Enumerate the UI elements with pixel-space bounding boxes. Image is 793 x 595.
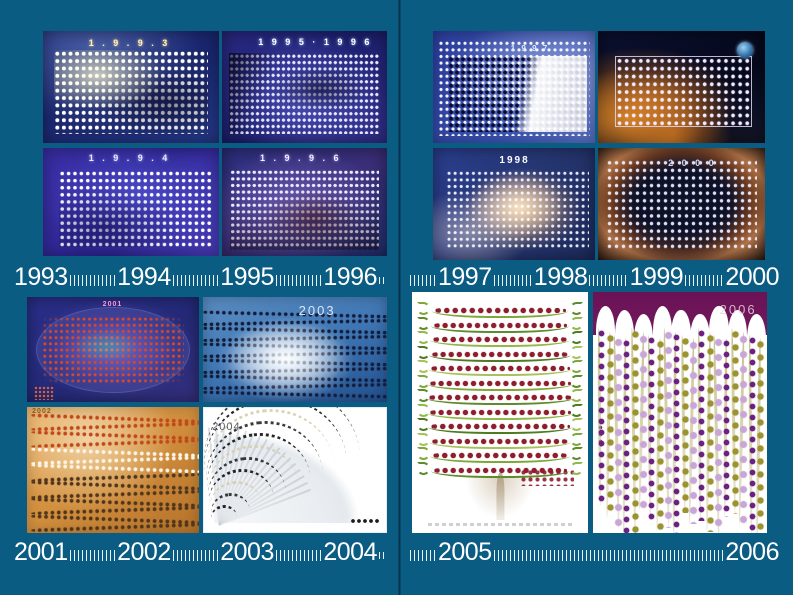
tendril-curl	[417, 346, 430, 359]
poster-2005-artwork	[414, 294, 586, 531]
poster-2004[interactable]: 2004	[203, 407, 387, 533]
timeline-year-1996[interactable]: 1996	[323, 265, 377, 290]
tendril-curl	[570, 418, 583, 431]
tendril-curl	[417, 375, 430, 388]
timeline-ticks	[70, 550, 116, 561]
timeline-year-2006[interactable]: 2006	[725, 540, 779, 565]
timeline-ticks	[70, 275, 116, 286]
poster-caption: 2004	[212, 421, 240, 433]
timeline-year-2001[interactable]: 2001	[14, 540, 68, 565]
timeline-bottom-left: 2001200220032004	[14, 537, 389, 567]
legend-swatches	[34, 386, 54, 400]
poster-2000-artwork: 2 0 0 0	[598, 148, 765, 260]
poster-caption: 2 0 0 0	[668, 158, 717, 168]
poster-2001[interactable]: 2001	[27, 297, 199, 402]
poster-1999-artwork	[598, 31, 765, 143]
berry-row	[430, 364, 570, 373]
poster-caption: 2001	[103, 301, 123, 308]
tendril-curl	[570, 346, 583, 359]
poster-caption: 1 9 9 5 · 1 9 9 6	[258, 37, 372, 47]
berry-row	[433, 321, 567, 330]
poster-1993-artwork: 1 . 9 . 9 . 3	[43, 31, 219, 143]
dot-grid	[448, 56, 587, 132]
tendril-curl	[570, 331, 583, 344]
tendril-curl	[417, 302, 430, 315]
timeline-year-2004[interactable]: 2004	[323, 540, 377, 565]
timeline-ticks	[276, 275, 322, 286]
poster-1993[interactable]: 1 . 9 . 9 . 3	[43, 31, 219, 143]
poster-caption: 2002	[32, 408, 52, 415]
timeline-ticks	[173, 550, 219, 561]
timeline-ticks	[685, 275, 723, 286]
tendril-curl	[570, 389, 583, 402]
timeline-ticks	[379, 552, 387, 559]
poster-1995-1996[interactable]: 1 9 9 5 · 1 9 9 6	[222, 31, 387, 143]
timeline-year-1995[interactable]: 1995	[220, 265, 274, 290]
poster-2001-artwork: 2001	[27, 297, 199, 402]
bloom-column	[756, 338, 765, 533]
timeline-ticks	[494, 550, 724, 561]
dot-grid	[42, 316, 183, 383]
poster-1998-artwork: 1998	[433, 148, 595, 260]
tendril-curl	[570, 404, 583, 417]
poster-2002[interactable]: 2002	[27, 407, 199, 533]
page-spine-divider	[398, 0, 401, 595]
dot-grid	[54, 50, 209, 134]
tendril-curl	[417, 447, 430, 460]
timeline-ticks	[276, 550, 322, 561]
poster-caption: 1 . 9 . 9 . 4	[89, 153, 171, 163]
timeline-year-1994[interactable]: 1994	[117, 265, 171, 290]
poster-2000[interactable]: 2 0 0 0	[598, 148, 765, 260]
timeline-year-2002[interactable]: 2002	[117, 540, 171, 565]
tendril-curl	[570, 433, 583, 446]
tendril-curl	[417, 360, 430, 373]
footer-text-block	[428, 523, 572, 526]
poster-2002-artwork: 2002	[27, 407, 199, 533]
timeline-year-1993[interactable]: 1993	[14, 265, 68, 290]
tendril-curl	[417, 418, 430, 431]
timeline-year-2005[interactable]: 2005	[438, 540, 492, 565]
timeline-top-left: 1993199419951996	[14, 262, 389, 292]
timeline-ticks	[410, 275, 436, 286]
poster-1994[interactable]: 1 . 9 . 9 . 4	[43, 148, 219, 256]
tendril-curl	[417, 317, 430, 330]
poster-2004-artwork: 2004	[203, 407, 387, 533]
poster-1997-artwork: 1 9 9 7	[433, 31, 595, 143]
dot-wave-rows	[203, 297, 387, 402]
dot-grid	[59, 170, 212, 248]
poster-caption: 2003	[299, 303, 336, 318]
poster-2005[interactable]	[412, 292, 588, 533]
poster-2003[interactable]: 2003	[203, 297, 387, 402]
berry-row	[430, 422, 570, 431]
dot-grid	[230, 169, 379, 250]
poster-caption: 2006	[720, 302, 757, 317]
timeline-top-right: 1997199819992000	[408, 262, 783, 292]
poster-caption: 1 . 9 . 9 . 3	[89, 38, 171, 48]
poster-caption: 1 9 9 7	[511, 44, 549, 53]
timeline-ticks	[494, 275, 532, 286]
poster-1997[interactable]: 1 9 9 7	[433, 31, 595, 143]
berry-row	[432, 451, 568, 460]
berry-row	[431, 350, 569, 359]
tendril-curl	[570, 302, 583, 315]
timeline-ticks	[410, 550, 436, 561]
poster-2006-artwork: 2006	[593, 292, 767, 533]
berry-row	[431, 437, 569, 446]
tendril-curl	[417, 404, 430, 417]
timeline-ticks	[589, 275, 627, 286]
dot-grid	[615, 56, 752, 128]
timeline-year-2003[interactable]: 2003	[220, 540, 274, 565]
berry-row	[432, 335, 568, 344]
dot-grid	[229, 53, 381, 134]
berry-row	[434, 306, 566, 315]
poster-1994-artwork: 1 . 9 . 9 . 4	[43, 148, 219, 256]
tendril-curl	[570, 317, 583, 330]
poster-1996-artwork: 1 . 9 . 9 . 6	[222, 148, 387, 256]
timeline-ticks	[173, 275, 219, 286]
dot-row	[203, 389, 387, 401]
berry-row	[429, 408, 571, 417]
poster-1998[interactable]: 1998	[433, 148, 595, 260]
timeline-year-1998[interactable]: 1998	[534, 265, 588, 290]
poster-2006[interactable]: 2006	[593, 292, 767, 533]
tendril-curl	[570, 447, 583, 460]
dot-grid	[606, 159, 756, 249]
timeline-year-1999[interactable]: 1999	[630, 265, 684, 290]
berry-row	[429, 379, 571, 388]
poster-1999[interactable]	[598, 31, 765, 143]
poster-1995-1996-artwork: 1 9 9 5 · 1 9 9 6	[222, 31, 387, 143]
dot-wave-rows	[27, 407, 199, 533]
poster-1996[interactable]: 1 . 9 . 9 . 6	[222, 148, 387, 256]
timeline-year-2000[interactable]: 2000	[725, 265, 779, 290]
timeline-ticks	[379, 277, 387, 284]
tendril-curl	[570, 462, 583, 475]
legend-swatches	[350, 518, 380, 524]
timeline-year-1997[interactable]: 1997	[438, 265, 492, 290]
poster-caption: 1998	[499, 155, 529, 166]
tendril-curl	[417, 331, 430, 344]
poster-2003-artwork: 2003	[203, 297, 387, 402]
tendril-curl	[417, 462, 430, 475]
tendril-curl	[570, 375, 583, 388]
timeline-bottom-right: 20052006	[408, 537, 783, 567]
berry-row	[433, 466, 567, 475]
tendril-curl	[570, 360, 583, 373]
berry-row	[428, 393, 572, 402]
poster-caption: 1 . 9 . 9 . 6	[260, 153, 342, 163]
tendril-curl	[417, 433, 430, 446]
